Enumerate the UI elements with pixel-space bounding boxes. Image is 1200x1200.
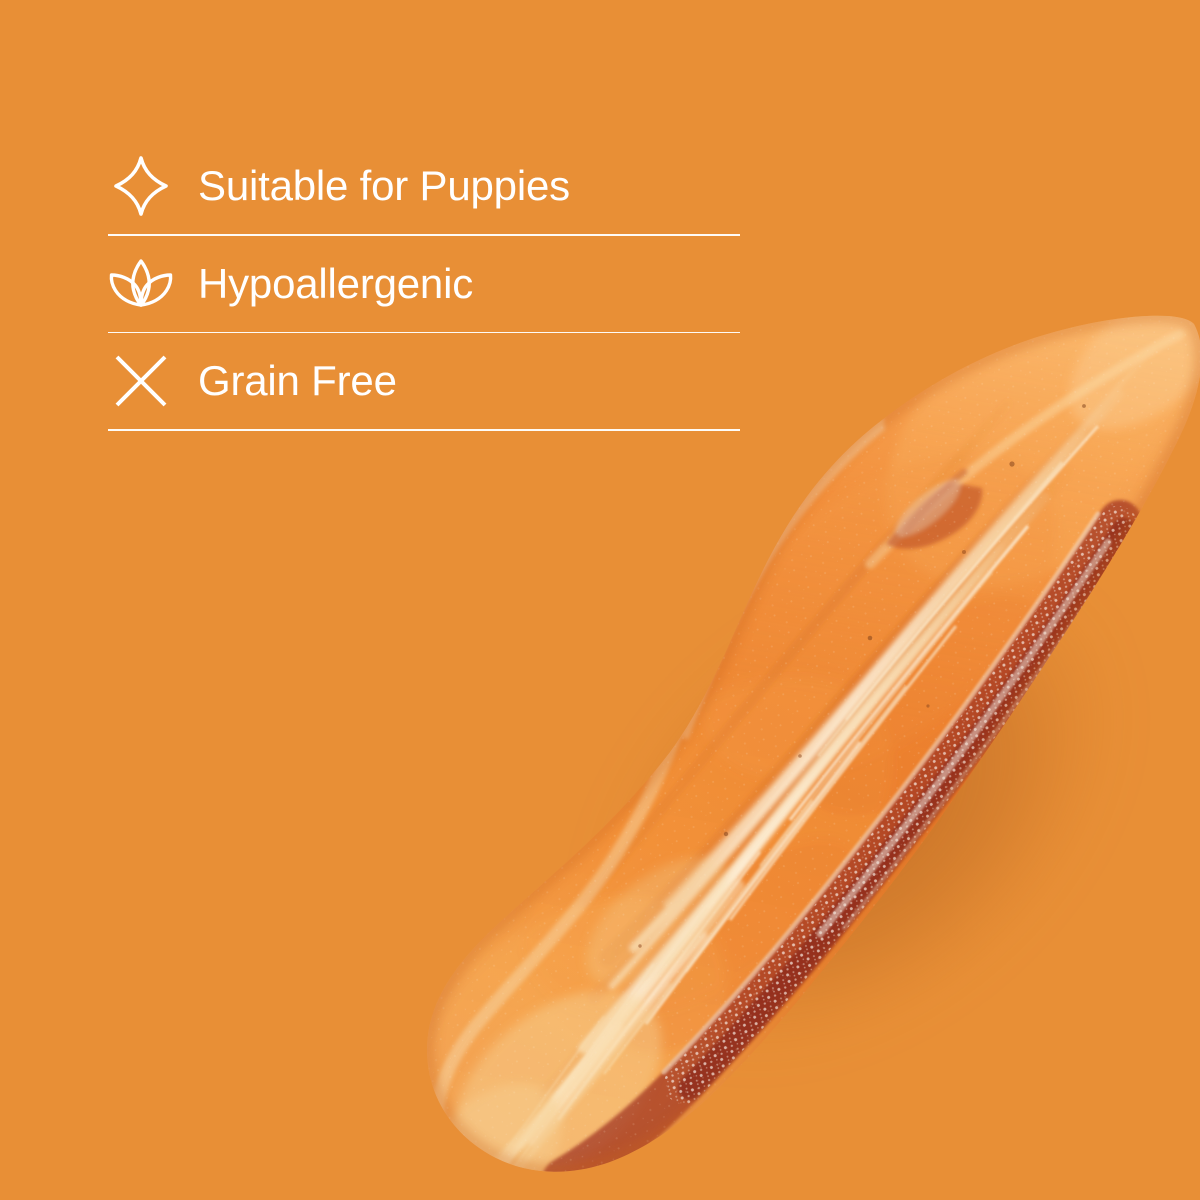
feature-label: Hypoallergenic	[198, 263, 473, 305]
feature-label: Suitable for Puppies	[198, 165, 570, 207]
feature-row: Suitable for Puppies	[108, 138, 740, 234]
feature-list: Suitable for Puppies Hypoallergenic	[108, 138, 740, 431]
product-feature-card: Suitable for Puppies Hypoallergenic	[0, 0, 1200, 1200]
feature-row: Grain Free	[108, 333, 740, 429]
lotus-leaf-icon	[108, 251, 174, 317]
cross-x-icon	[108, 348, 174, 414]
sparkle-diamond-icon	[108, 153, 174, 219]
feature-divider	[108, 429, 740, 431]
feature-row: Hypoallergenic	[108, 236, 740, 332]
feature-label: Grain Free	[198, 360, 397, 402]
